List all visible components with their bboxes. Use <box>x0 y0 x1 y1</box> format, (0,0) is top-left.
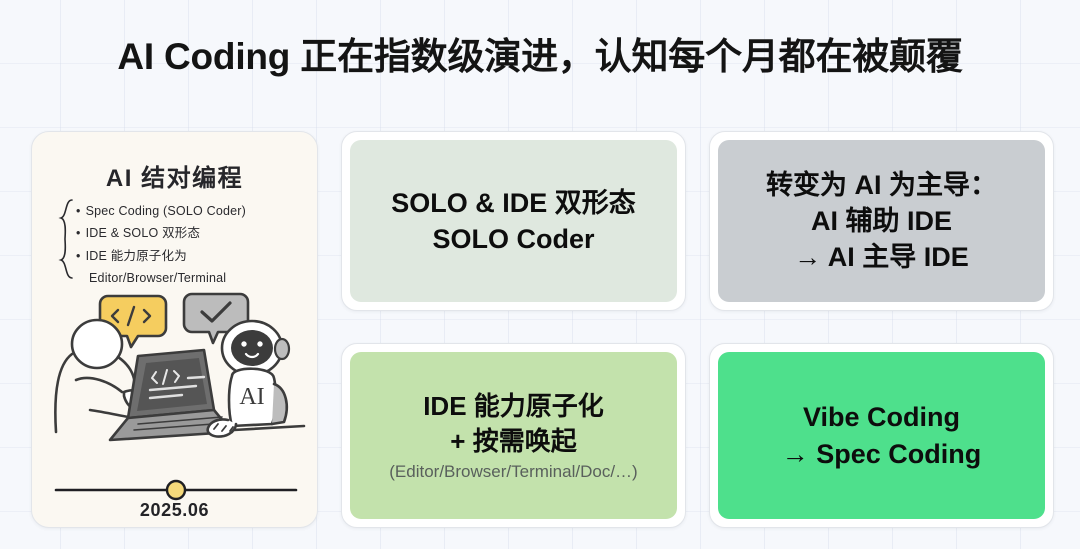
list-item: •IDE & SOLO 双形态 <box>76 222 308 244</box>
card-line: → AI 主导 IDE <box>794 239 969 275</box>
card-ai-led-shift[interactable]: 转变为 AI 为主导： AI 辅助 IDE → AI 主导 IDE <box>709 131 1054 311</box>
card-board: AI 结对编程 •Spec Coding (SOLO Coder) •IDE &… <box>31 131 1049 528</box>
card-vibe-to-spec-panel: Vibe Coding → Spec Coding <box>718 352 1045 519</box>
card-ide-atomization[interactable]: IDE 能力原子化 + 按需唤起 (Editor/Browser/Termina… <box>341 343 686 528</box>
timeline <box>54 478 298 502</box>
bullet-dot-icon: • <box>76 249 81 263</box>
card-ide-atomization-panel: IDE 能力原子化 + 按需唤起 (Editor/Browser/Termina… <box>350 352 677 519</box>
robot-chest-label: AI <box>239 384 264 410</box>
card-ai-led-shift-panel: 转变为 AI 为主导： AI 辅助 IDE → AI 主导 IDE <box>718 140 1045 302</box>
sketch-card-heading: AI 结对编程 <box>32 158 317 193</box>
card-solo-ide-panel: SOLO & IDE 双形态 SOLO Coder <box>350 140 677 302</box>
human-robot-laptop-illustration: AI <box>46 292 306 472</box>
card-line: AI 辅助 IDE <box>811 203 952 239</box>
card-line: SOLO & IDE 双形态 <box>391 185 636 221</box>
list-item-continuation: Editor/Browser/Terminal <box>76 267 308 289</box>
timeline-marker-dot[interactable] <box>167 481 185 499</box>
card-ai-pair-programming[interactable]: AI 结对编程 •Spec Coding (SOLO Coder) •IDE &… <box>31 131 318 528</box>
card-vibe-to-spec[interactable]: Vibe Coding → Spec Coding <box>709 343 1054 528</box>
list-item: •IDE 能力原子化为 <box>76 245 308 267</box>
card-subtitle: (Editor/Browser/Terminal/Doc/…) <box>389 462 637 482</box>
page-title: AI Coding 正在指数级演进，认知每个月都在被颠覆 <box>0 26 1080 80</box>
card-line: SOLO Coder <box>432 221 594 257</box>
timeline-date-label: 2025.06 <box>32 500 317 521</box>
card-line: + 按需唤起 <box>450 424 576 459</box>
bullet-dot-icon: • <box>76 226 81 240</box>
curly-brace-icon <box>56 198 76 280</box>
card-line: → Spec Coding <box>782 436 982 472</box>
card-line: 转变为 AI 为主导： <box>766 167 997 203</box>
card-line: Vibe Coding <box>803 399 960 435</box>
sketch-bullet-list: •Spec Coding (SOLO Coder) •IDE & SOLO 双形… <box>76 200 308 289</box>
list-item: •Spec Coding (SOLO Coder) <box>76 200 308 222</box>
card-line: IDE 能力原子化 <box>423 389 604 424</box>
bullet-dot-icon: • <box>76 204 81 218</box>
robot-icon <box>208 321 289 437</box>
card-solo-ide[interactable]: SOLO & IDE 双形态 SOLO Coder <box>341 131 686 311</box>
